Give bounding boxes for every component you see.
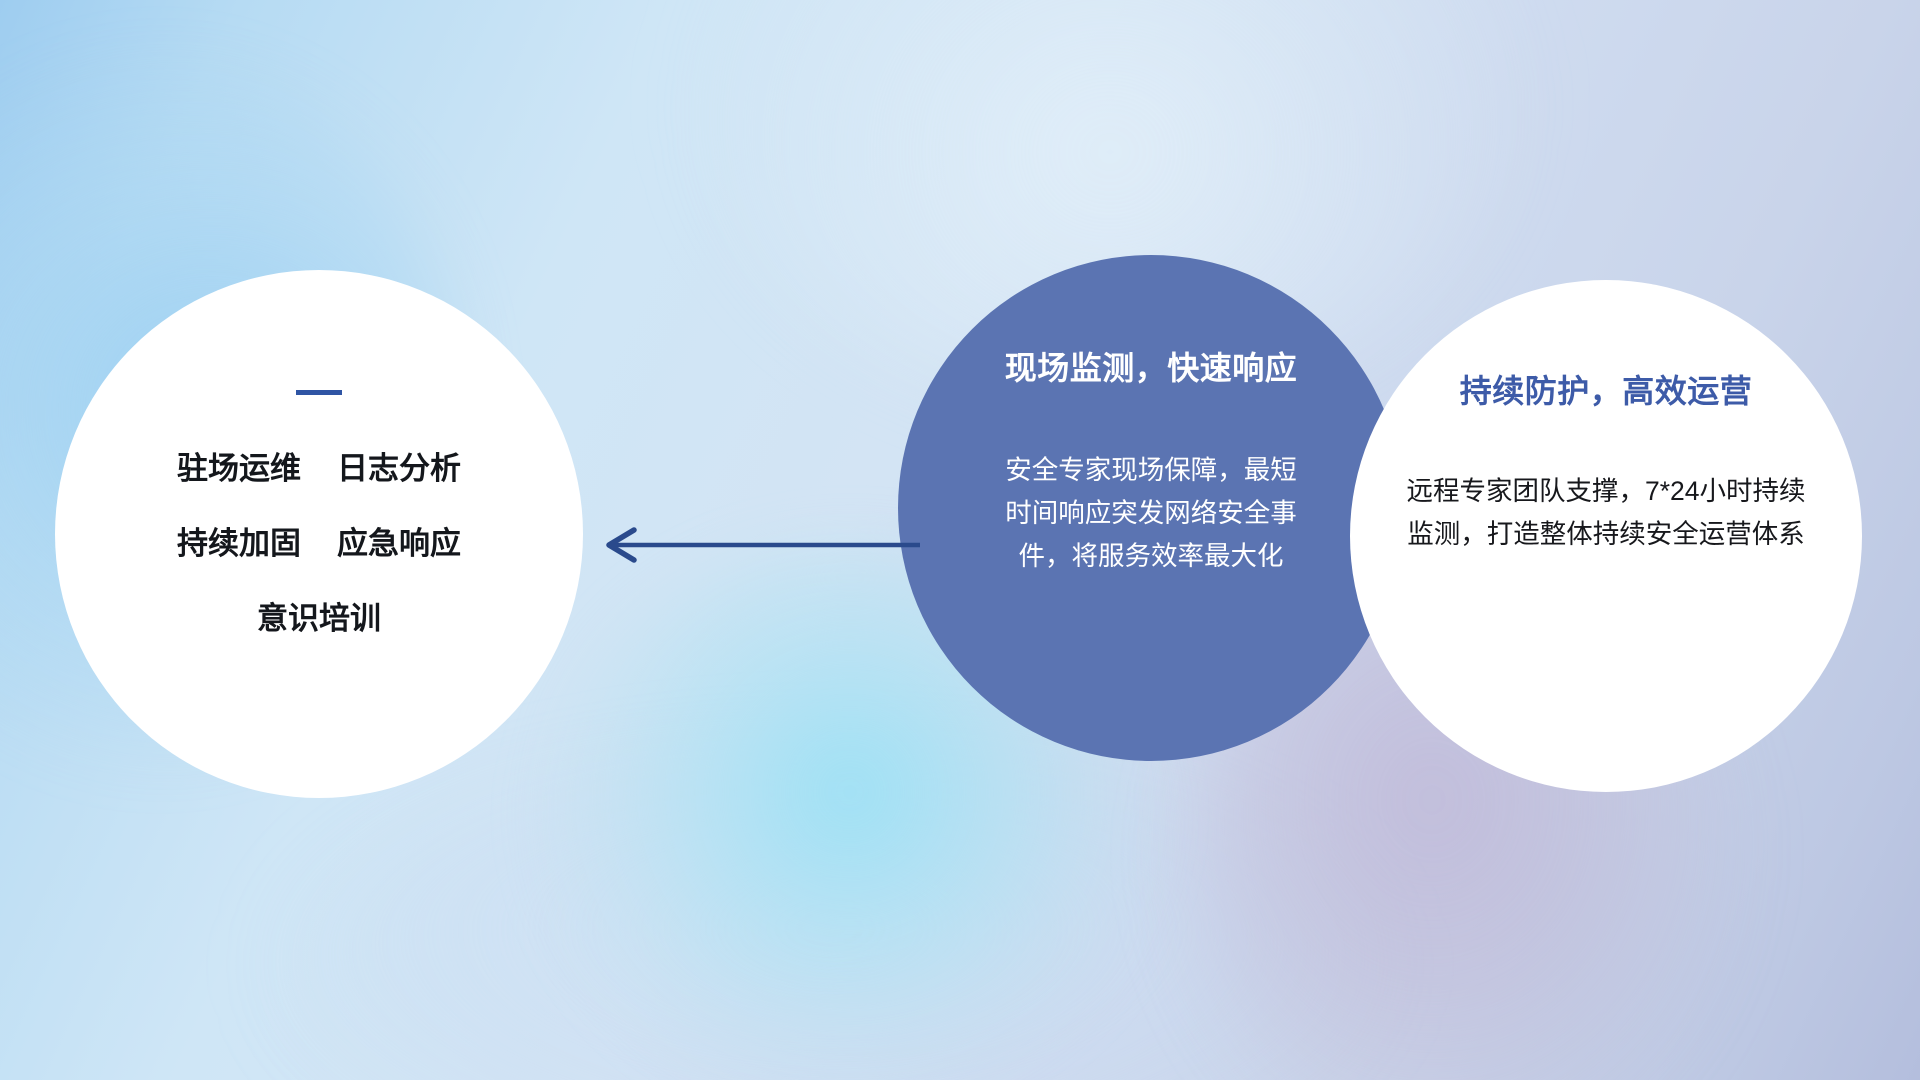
keyword-row: 持续加固 应急响应 xyxy=(177,528,461,559)
middle-circle-title: 现场监测，快速响应 xyxy=(1005,349,1298,387)
middle-circle-body: 安全专家现场保障，最短时间响应突发网络安全事件，将服务效率最大化 xyxy=(1001,449,1301,578)
flow-arrow-left-icon xyxy=(590,510,920,580)
divider-dash-icon xyxy=(296,390,342,395)
keyword-row: 意识培训 xyxy=(257,603,381,634)
capability-circle-left[interactable]: 驻场运维 日志分析 持续加固 应急响应 意识培训 xyxy=(55,270,583,798)
keyword-item: 持续加固 xyxy=(177,528,301,559)
keyword-item: 应急响应 xyxy=(337,528,461,559)
left-circle-content: 驻场运维 日志分析 持续加固 应急响应 意识培训 xyxy=(55,270,583,634)
keyword-item: 意识培训 xyxy=(257,603,381,634)
background-glow-bottom xyxy=(280,760,1380,1080)
middle-circle-content: 现场监测，快速响应 安全专家现场保障，最短时间响应突发网络安全事件，将服务效率最… xyxy=(898,349,1404,578)
keyword-item: 日志分析 xyxy=(337,453,461,484)
capability-circle-right[interactable]: 持续防护，高效运营 远程专家团队支撑，7*24小时持续监测，打造整体持续安全运营… xyxy=(1350,280,1862,792)
right-circle-title: 持续防护，高效运营 xyxy=(1460,372,1753,410)
keyword-item: 驻场运维 xyxy=(177,453,301,484)
right-circle-content: 持续防护，高效运营 远程专家团队支撑，7*24小时持续监测，打造整体持续安全运营… xyxy=(1350,372,1862,556)
slide-canvas: 驻场运维 日志分析 持续加固 应急响应 意识培训 现场监测，快速响应 安全专家现… xyxy=(0,0,1920,1080)
right-circle-body: 远程专家团队支撑，7*24小时持续监测，打造整体持续安全运营体系 xyxy=(1406,470,1806,556)
capability-circle-middle[interactable]: 现场监测，快速响应 安全专家现场保障，最短时间响应突发网络安全事件，将服务效率最… xyxy=(898,255,1404,761)
keyword-row: 驻场运维 日志分析 xyxy=(177,453,461,484)
